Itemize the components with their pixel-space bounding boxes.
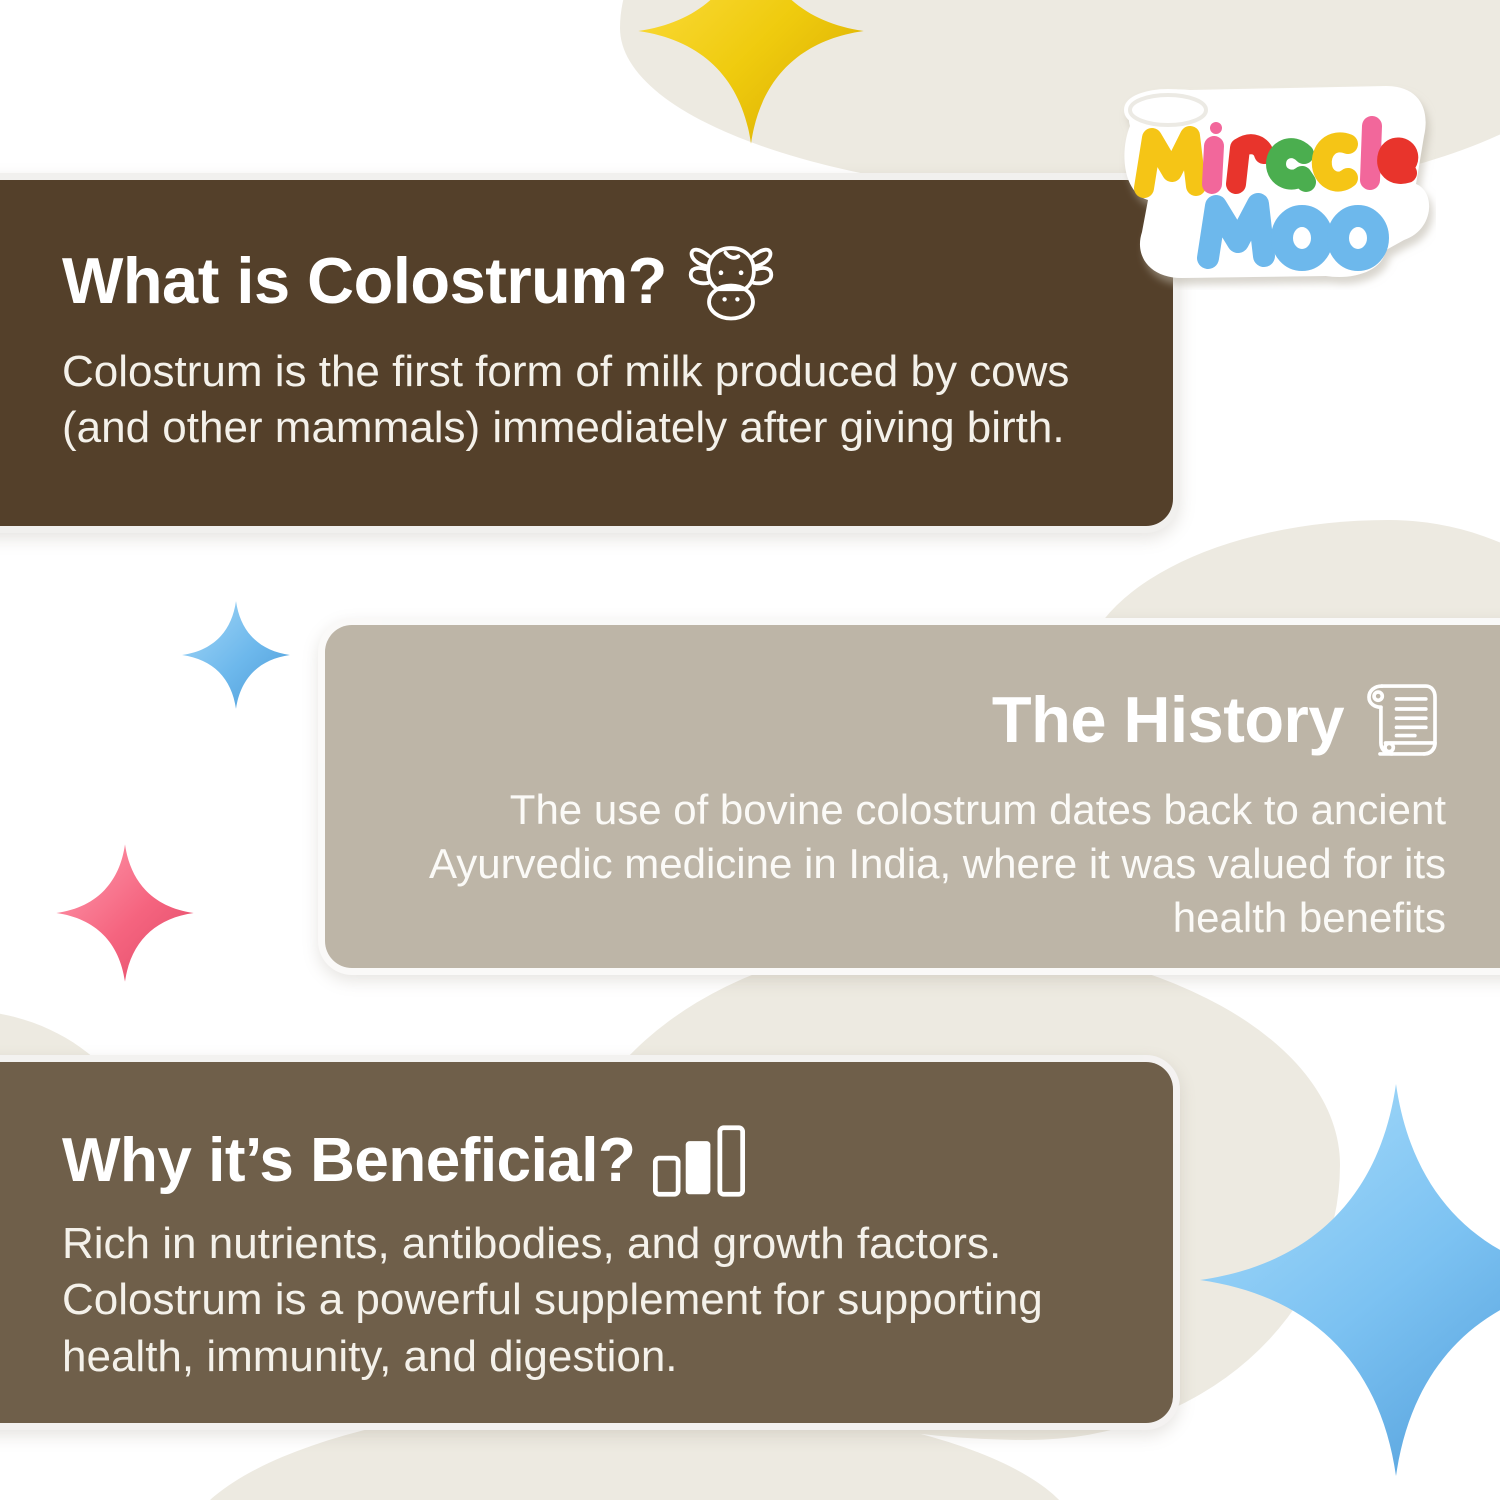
star-pink-icon [55,843,195,988]
card-why-body: Rich in nutrients, antibodies, and growt… [62,1216,1113,1385]
card-history-title-row: The History [385,675,1446,765]
card-what-title-row: What is Colostrum? [62,238,1113,324]
card-why-title-row: Why it’s Beneficial? [62,1124,1113,1198]
cow-face-icon [685,238,777,324]
card-the-history: The History The use of bovine colostru [318,618,1500,975]
star-yellow-icon [636,0,866,76]
star-blue-small-icon [181,600,291,710]
infographic-canvas: What is Colostrum? Colostrum is the fi [0,0,1500,1500]
card-what-body: Colostrum is the first form of milk prod… [62,344,1113,457]
card-what-title: What is Colostrum? [62,247,667,315]
miracle-moo-logo[interactable]: Miracle Moo [1086,80,1436,290]
card-history-body: The use of bovine colostrum dates back t… [385,783,1446,944]
card-why-its-beneficial: Why it’s Beneficial? Rich in nutrients, … [0,1055,1180,1430]
card-history-title: The History [992,686,1344,754]
scroll-icon [1358,675,1446,765]
card-why-title: Why it’s Beneficial? [62,1128,635,1193]
card-what-is-colostrum: What is Colostrum? Colostrum is the fi [0,173,1180,533]
star-blue-large-icon [1196,1080,1500,1500]
bar-chart-icon [651,1124,747,1198]
